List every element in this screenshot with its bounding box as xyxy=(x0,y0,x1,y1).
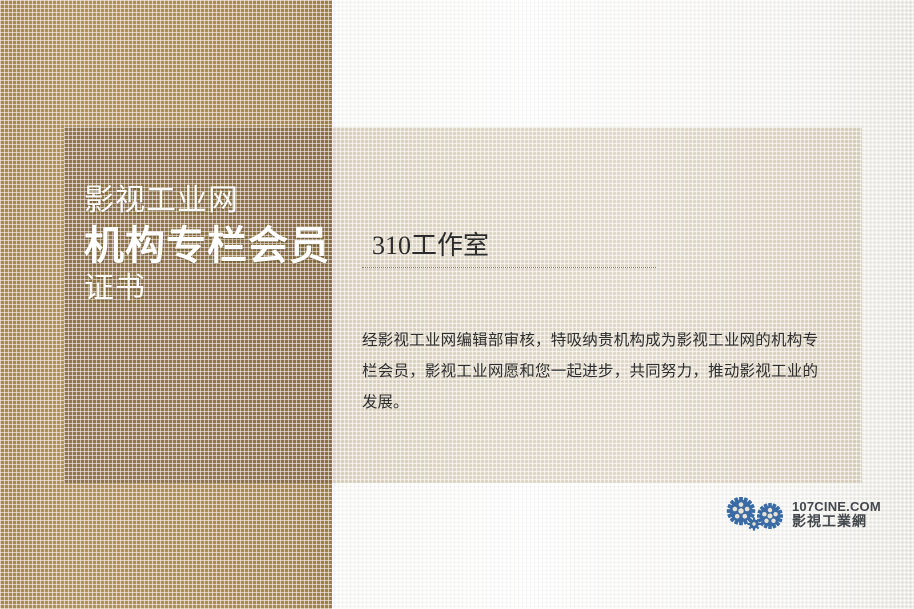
certificate-canvas: 影视工业网 机构专栏会员 证书 310工作室 经影视工业网编辑部审核，特吸纳贵机… xyxy=(0,0,914,609)
brand-domain: 107CINE.COM xyxy=(792,500,881,514)
recipient-name: 310工作室 xyxy=(362,232,658,267)
certificate-title-suffix: 证书 xyxy=(84,274,414,304)
gears-icon xyxy=(726,497,788,533)
recipient-underline xyxy=(362,267,656,268)
organization-name: 影视工业网 xyxy=(84,186,414,216)
brand-logo: 107CINE.COM 影視工業網 xyxy=(726,495,878,535)
band-overlay-block xyxy=(64,127,332,483)
brand-wordmark: 107CINE.COM 影視工業網 xyxy=(792,500,881,529)
certificate-body-text: 经影视工业网编辑部审核，特吸纳贵机构成为影视工业网的机构专栏会员，影视工业网愿和… xyxy=(362,325,818,418)
brand-name-chinese: 影視工業網 xyxy=(792,514,881,529)
content-panel xyxy=(332,127,862,483)
recipient-field: 310工作室 xyxy=(362,232,658,268)
